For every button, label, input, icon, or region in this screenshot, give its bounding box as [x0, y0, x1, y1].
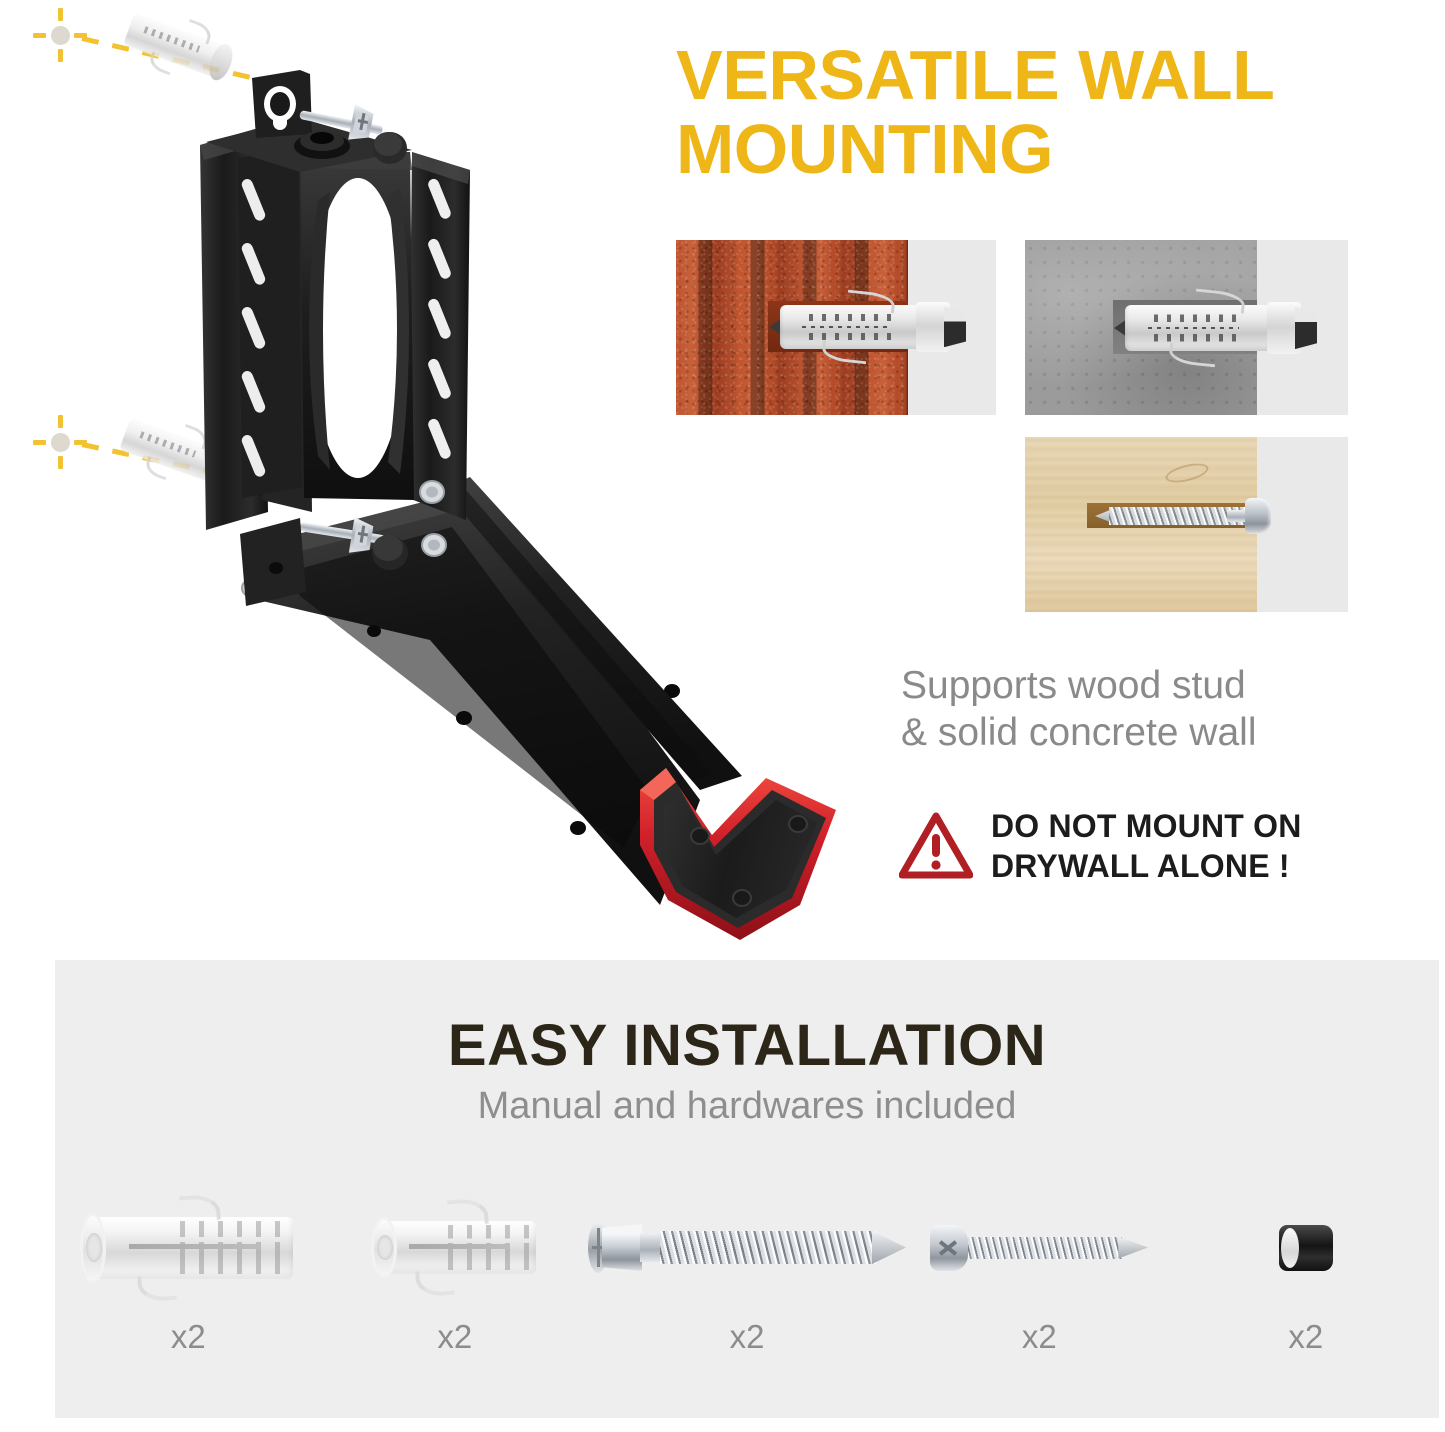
- concrete-wall-panel: [1025, 240, 1348, 415]
- hex-head-lag-screw-icon: [588, 1175, 906, 1320]
- hardware-list: x2 x2: [55, 1175, 1439, 1390]
- supports-line-1: Supports wood stud: [901, 662, 1401, 709]
- bracket-wall-plate: [200, 70, 470, 530]
- product-infographic: VERSATILE WALL MOUNTING: [0, 0, 1445, 1432]
- bracket-knob-upper: [373, 132, 407, 164]
- anchor-hex-head: [944, 307, 966, 347]
- hardware-qty: x2: [730, 1320, 765, 1353]
- wall-mount-bracket-drawing: [0, 0, 900, 960]
- hardware-qty: x2: [171, 1320, 206, 1353]
- supports-description: Supports wood stud & solid concrete wall: [901, 662, 1401, 756]
- bracket-arm-hinge: [240, 518, 306, 606]
- hardware-qty: x2: [437, 1320, 472, 1353]
- small-wall-anchor-icon: [322, 1175, 589, 1320]
- hardware-item: x2: [1173, 1175, 1440, 1390]
- hardware-item: x2: [906, 1175, 1173, 1390]
- versatile-wall-mounting-section: VERSATILE WALL MOUNTING: [0, 0, 1445, 960]
- anchor-hex-head: [1295, 307, 1317, 349]
- warning-line-2: DRYWALL ALONE !: [991, 846, 1302, 886]
- warning-text: DO NOT MOUNT ON DRYWALL ALONE !: [991, 806, 1302, 886]
- hardware-qty: x2: [1288, 1320, 1323, 1353]
- pan-head-screw-icon: [1095, 505, 1271, 527]
- hardware-item: x2: [55, 1175, 322, 1390]
- bracket-red-hook: [640, 768, 836, 940]
- hardware-item: x2: [588, 1175, 906, 1390]
- screw-head: [1245, 498, 1271, 534]
- wall-anchor-plug-icon: [1125, 305, 1271, 351]
- pan-head-screw-icon: [906, 1175, 1173, 1320]
- hardware-qty: x2: [1022, 1320, 1057, 1353]
- large-wall-anchor-icon: [55, 1175, 322, 1320]
- product-illustration: [0, 0, 900, 960]
- easy-installation-title: EASY INSTALLATION: [55, 1012, 1439, 1079]
- easy-installation-section: EASY INSTALLATION Manual and hardwares i…: [55, 960, 1439, 1418]
- easy-installation-subtitle: Manual and hardwares included: [55, 1085, 1439, 1128]
- supports-line-2: & solid concrete wall: [901, 709, 1401, 756]
- warning-line-1: DO NOT MOUNT ON: [991, 806, 1302, 846]
- rubber-cap-washer-icon: [1173, 1175, 1440, 1320]
- hardware-item: x2: [322, 1175, 589, 1390]
- warning-triangle-icon: [899, 811, 973, 881]
- wood-wall-panel: [1025, 437, 1348, 612]
- anchor-center-line: [1148, 327, 1239, 330]
- drywall-warning: DO NOT MOUNT ON DRYWALL ALONE !: [899, 806, 1419, 886]
